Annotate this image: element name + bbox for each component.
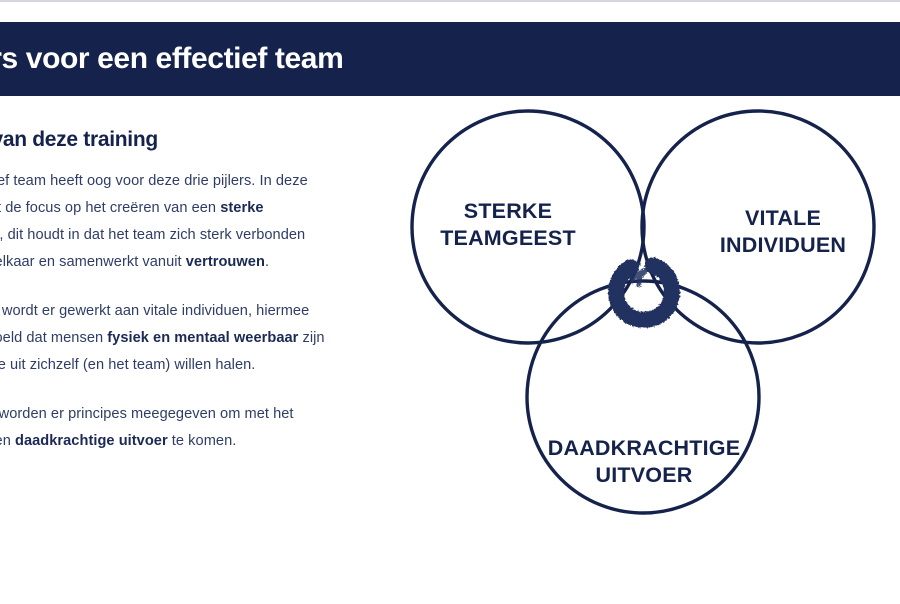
plain-text: otte worden er principes meegegeven om m… bbox=[0, 406, 294, 422]
paragraph-line: g ligt de focus op het creëren van een s… bbox=[0, 195, 392, 222]
paragraph-line: ot een daadkrachtige uitvoer te komen. bbox=[0, 428, 392, 455]
emphasis-text: daadkrachtige uitvoer bbox=[15, 433, 168, 449]
plain-text: , dit houdt in dat het team zich sterk v… bbox=[0, 227, 305, 243]
venn-label-line: VITALE bbox=[745, 206, 821, 230]
paragraph-line: eest, dit houdt in dat het team zich ste… bbox=[0, 222, 392, 249]
plain-text: zijn bbox=[298, 330, 324, 346]
body-paragraph: aast wordt er gewerkt aan vitale individ… bbox=[0, 298, 392, 379]
plain-text: fectief team heeft oog voor deze drie pi… bbox=[0, 173, 308, 189]
plain-text: aast wordt er gewerkt aan vitale individ… bbox=[0, 303, 309, 319]
plain-text: beste uit zichzelf (en het team) willen … bbox=[0, 357, 255, 373]
paragraph-line: beste uit zichzelf (en het team) willen … bbox=[0, 352, 392, 379]
venn-label-vitale-individuen: VITALEINDIVIDUEN bbox=[720, 206, 846, 257]
emphasis-text: vertrouwen bbox=[186, 254, 265, 270]
plain-text: g ligt de focus op het creëren van een bbox=[0, 200, 220, 216]
paragraph-line: het elkaar en samenwerkt vanuit vertrouw… bbox=[0, 249, 392, 276]
page-title: ers voor een effectief team bbox=[0, 42, 343, 76]
venn-label-line: STERKE bbox=[464, 199, 552, 223]
venn-label-daadkrachtige-uitvoer: DAADKRACHTIGEUITVOER bbox=[548, 436, 741, 487]
text-column: us van deze training fectief team heeft … bbox=[0, 128, 392, 455]
emphasis-text: sterke bbox=[220, 200, 263, 216]
paragraph-line: aast wordt er gewerkt aan vitale individ… bbox=[0, 298, 392, 325]
venn-label-line: DAADKRACHTIGE bbox=[548, 436, 741, 460]
body-paragraph: fectief team heeft oog voor deze drie pi… bbox=[0, 168, 392, 276]
venn-label-sterke-teamgeest: STERKETEAMGEEST bbox=[440, 199, 576, 250]
plain-text: . bbox=[265, 254, 269, 270]
plain-text: bedoeld dat mensen bbox=[0, 330, 107, 346]
section-heading: us van deze training bbox=[0, 128, 392, 152]
venn-diagram: STERKETEAMGEESTVITALEINDIVIDUENDAADKRACH… bbox=[398, 100, 890, 530]
venn-label-line: TEAMGEEST bbox=[440, 226, 576, 250]
venn-svg: STERKETEAMGEESTVITALEINDIVIDUENDAADKRACH… bbox=[398, 100, 890, 530]
emphasis-text: fysiek en mentaal weerbaar bbox=[107, 330, 298, 346]
top-hairline bbox=[0, 0, 900, 2]
slide-root: ers voor een effectief team us van deze … bbox=[0, 0, 900, 604]
plain-text: ot een bbox=[0, 433, 15, 449]
paragraph-line: fectief team heeft oog voor deze drie pi… bbox=[0, 168, 392, 195]
venn-label-line: INDIVIDUEN bbox=[720, 233, 846, 257]
body-paragraph: otte worden er principes meegegeven om m… bbox=[0, 401, 392, 455]
plain-text: te komen. bbox=[168, 433, 237, 449]
plain-text: het elkaar en samenwerkt vanuit bbox=[0, 254, 186, 270]
paragraph-line: bedoeld dat mensen fysiek en mentaal wee… bbox=[0, 325, 392, 352]
paragraph-line: otte worden er principes meegegeven om m… bbox=[0, 401, 392, 428]
paragraph-list: fectief team heeft oog voor deze drie pi… bbox=[0, 168, 392, 455]
venn-label-line: UITVOER bbox=[596, 463, 693, 487]
title-band: ers voor een effectief team bbox=[0, 22, 900, 96]
